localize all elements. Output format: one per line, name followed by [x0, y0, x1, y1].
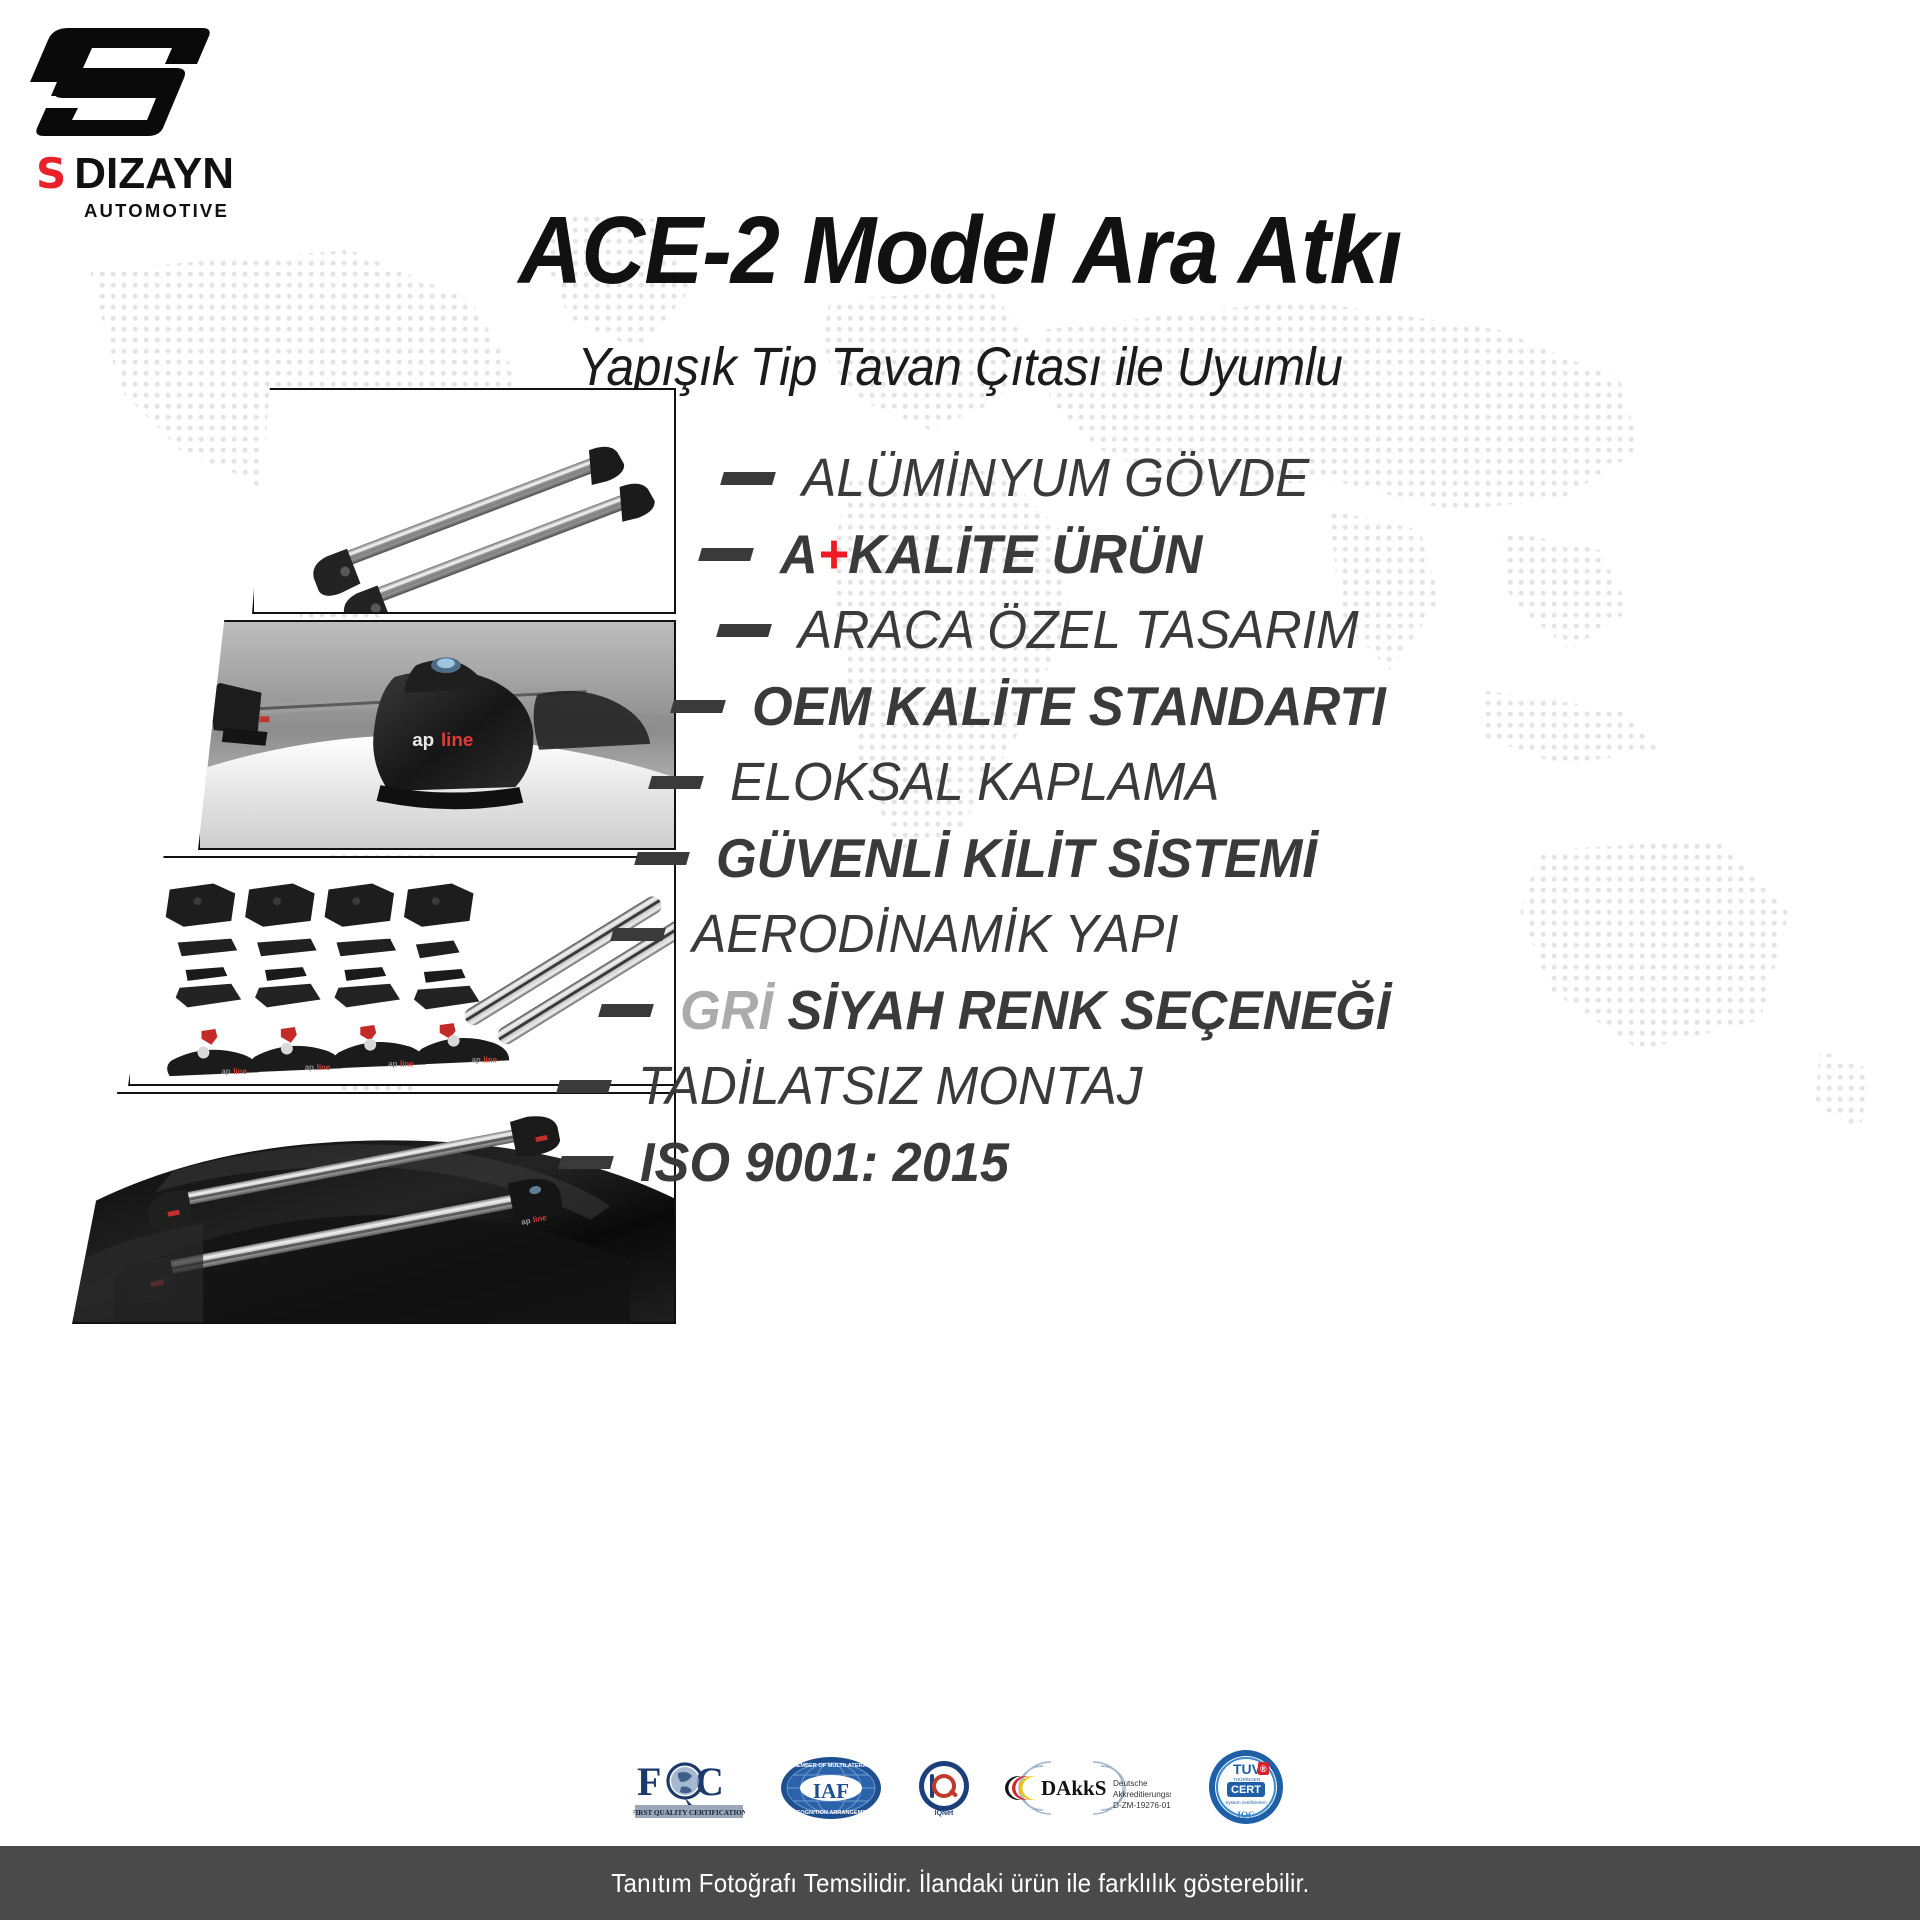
- feature-item-a-plus-kalite: A+KALİTE ÜRÜN: [0, 516, 1920, 592]
- feature-label: GRİ SİYAH RENK SEÇENEĞİ: [680, 978, 1390, 1042]
- feature-label-part: KALİTE ÜRÜN: [848, 523, 1202, 585]
- svg-text:System zertifizierten: System zertifizierten: [1225, 1800, 1267, 1805]
- feature-label-part: ISO 9001: 2015: [640, 1131, 1009, 1193]
- feature-label-part: GÜVENLİ KİLİT SİSTEMİ: [716, 827, 1317, 889]
- feature-label-part: ELOKSAL KAPLAMA: [730, 752, 1220, 812]
- feature-dash-icon: [720, 472, 776, 485]
- svg-text:Akkreditierungsstelle: Akkreditierungsstelle: [1113, 1790, 1171, 1799]
- feature-label-part: ALÜMİNYUM GÖVDE: [802, 448, 1309, 508]
- svg-text:IQC: IQC: [1237, 1810, 1254, 1820]
- svg-text:C: C: [695, 1759, 724, 1804]
- feature-item-eloksal-kaplama: ELOKSAL KAPLAMA: [0, 744, 1920, 820]
- feature-label-part: OEM KALİTE STANDARTI: [752, 675, 1386, 737]
- feature-label: ALÜMİNYUM GÖVDE: [802, 447, 1309, 509]
- feature-dash-icon: [716, 624, 772, 637]
- feature-label-part: SİYAH RENK SEÇENEĞİ: [773, 979, 1390, 1041]
- feature-label-part: AERODİNAMİK YAPI: [692, 904, 1179, 964]
- feature-label-part: TADİLATSIZ MONTAJ: [638, 1056, 1142, 1116]
- feature-item-araca-ozel-tasarim: ARACA ÖZEL TASARIM: [0, 592, 1920, 668]
- feature-label-part: GRİ: [680, 979, 773, 1041]
- svg-text:RECOGNITION ARRANGEMENT: RECOGNITION ARRANGEMENT: [789, 1810, 875, 1816]
- cert-badge-dakks: DAkkS Deutsche Akkreditierungsstelle D-Z…: [1005, 1756, 1171, 1820]
- feature-item-renk-secenegi: GRİ SİYAH RENK SEÇENEĞİ: [0, 972, 1920, 1048]
- cert-badge-iqnet: IQNet: [917, 1757, 971, 1819]
- svg-text:IAF: IAF: [813, 1779, 849, 1803]
- svg-text:FIRST QUALITY CERTIFICATION: FIRST QUALITY CERTIFICATION: [633, 1809, 745, 1817]
- feature-label-part: ARACA ÖZEL TASARIM: [798, 600, 1359, 660]
- feature-label: ARACA ÖZEL TASARIM: [798, 599, 1359, 661]
- svg-text:CERT: CERT: [1231, 1784, 1261, 1796]
- feature-label: AERODİNAMİK YAPI: [692, 903, 1179, 965]
- feature-dash-icon: [698, 548, 754, 561]
- svg-text:TUV: TUV: [1233, 1761, 1262, 1777]
- svg-text:D-ZM-19276-01-00: D-ZM-19276-01-00: [1113, 1801, 1171, 1810]
- feature-dash-icon: [648, 776, 704, 789]
- feature-label: ELOKSAL KAPLAMA: [730, 751, 1220, 813]
- feature-label: ISO 9001: 2015: [640, 1130, 1009, 1194]
- cert-badge-fqc: F C FIRST QUALITY CERTIFICATION: [633, 1755, 745, 1821]
- feature-dash-icon: [634, 852, 690, 865]
- feature-item-aluminyum-govde: ALÜMİNYUM GÖVDE: [0, 440, 1920, 516]
- svg-text:IQNet: IQNet: [935, 1810, 954, 1817]
- feature-dash-icon: [556, 1080, 612, 1093]
- svg-text:MEMBER OF MULTILATERAL: MEMBER OF MULTILATERAL: [792, 1763, 871, 1769]
- svg-text:®: ®: [1260, 1764, 1267, 1774]
- feature-dash-icon: [598, 1004, 654, 1017]
- feature-item-iso-9001: ISO 9001: 2015: [0, 1124, 1920, 1200]
- product-poster: S DIZAYN AUTOMOTIVE ACE-2 Model Ara Atkı…: [0, 0, 1920, 1920]
- feature-label: TADİLATSIZ MONTAJ: [638, 1055, 1142, 1117]
- feature-label-part: +: [818, 523, 849, 585]
- footer-bar: Tanıtım Fotoğrafı Temsilidir. İlandaki ü…: [0, 1846, 1920, 1920]
- cert-badge-tuv: TUV ® THÜRINGEN CERT System zertifiziert…: [1205, 1748, 1287, 1828]
- feature-item-aerodinamik-yapi: AERODİNAMİK YAPI: [0, 896, 1920, 972]
- feature-dash-icon: [558, 1156, 614, 1169]
- svg-text:THÜRINGEN: THÜRINGEN: [1233, 1776, 1260, 1782]
- footer-disclaimer: Tanıtım Fotoğrafı Temsilidir. İlandaki ü…: [611, 1868, 1309, 1899]
- feature-label: GÜVENLİ KİLİT SİSTEMİ: [716, 826, 1317, 890]
- feature-item-tadilatsiz-montaj: TADİLATSIZ MONTAJ: [0, 1048, 1920, 1124]
- feature-dash-icon: [670, 700, 726, 713]
- svg-text:F: F: [637, 1759, 661, 1804]
- feature-label-part: A: [780, 523, 818, 585]
- cert-badge-iaf: IAF MEMBER OF MULTILATERAL RECOGNITION A…: [779, 1755, 883, 1821]
- svg-text:Deutsche: Deutsche: [1113, 1779, 1148, 1788]
- feature-item-oem-kalite: OEM KALİTE STANDARTI: [0, 668, 1920, 744]
- feature-label: OEM KALİTE STANDARTI: [752, 674, 1386, 738]
- feature-label: A+KALİTE ÜRÜN: [780, 522, 1202, 586]
- certification-badges: F C FIRST QUALITY CERTIFICATION: [0, 1748, 1920, 1828]
- svg-text:DAkkS: DAkkS: [1041, 1776, 1106, 1800]
- feature-list: ALÜMİNYUM GÖVDEA+KALİTE ÜRÜNARACA ÖZEL T…: [0, 440, 1920, 1200]
- feature-item-guvenli-kilit: GÜVENLİ KİLİT SİSTEMİ: [0, 820, 1920, 896]
- feature-dash-icon: [610, 928, 666, 941]
- svg-text:ap: ap: [520, 1216, 531, 1227]
